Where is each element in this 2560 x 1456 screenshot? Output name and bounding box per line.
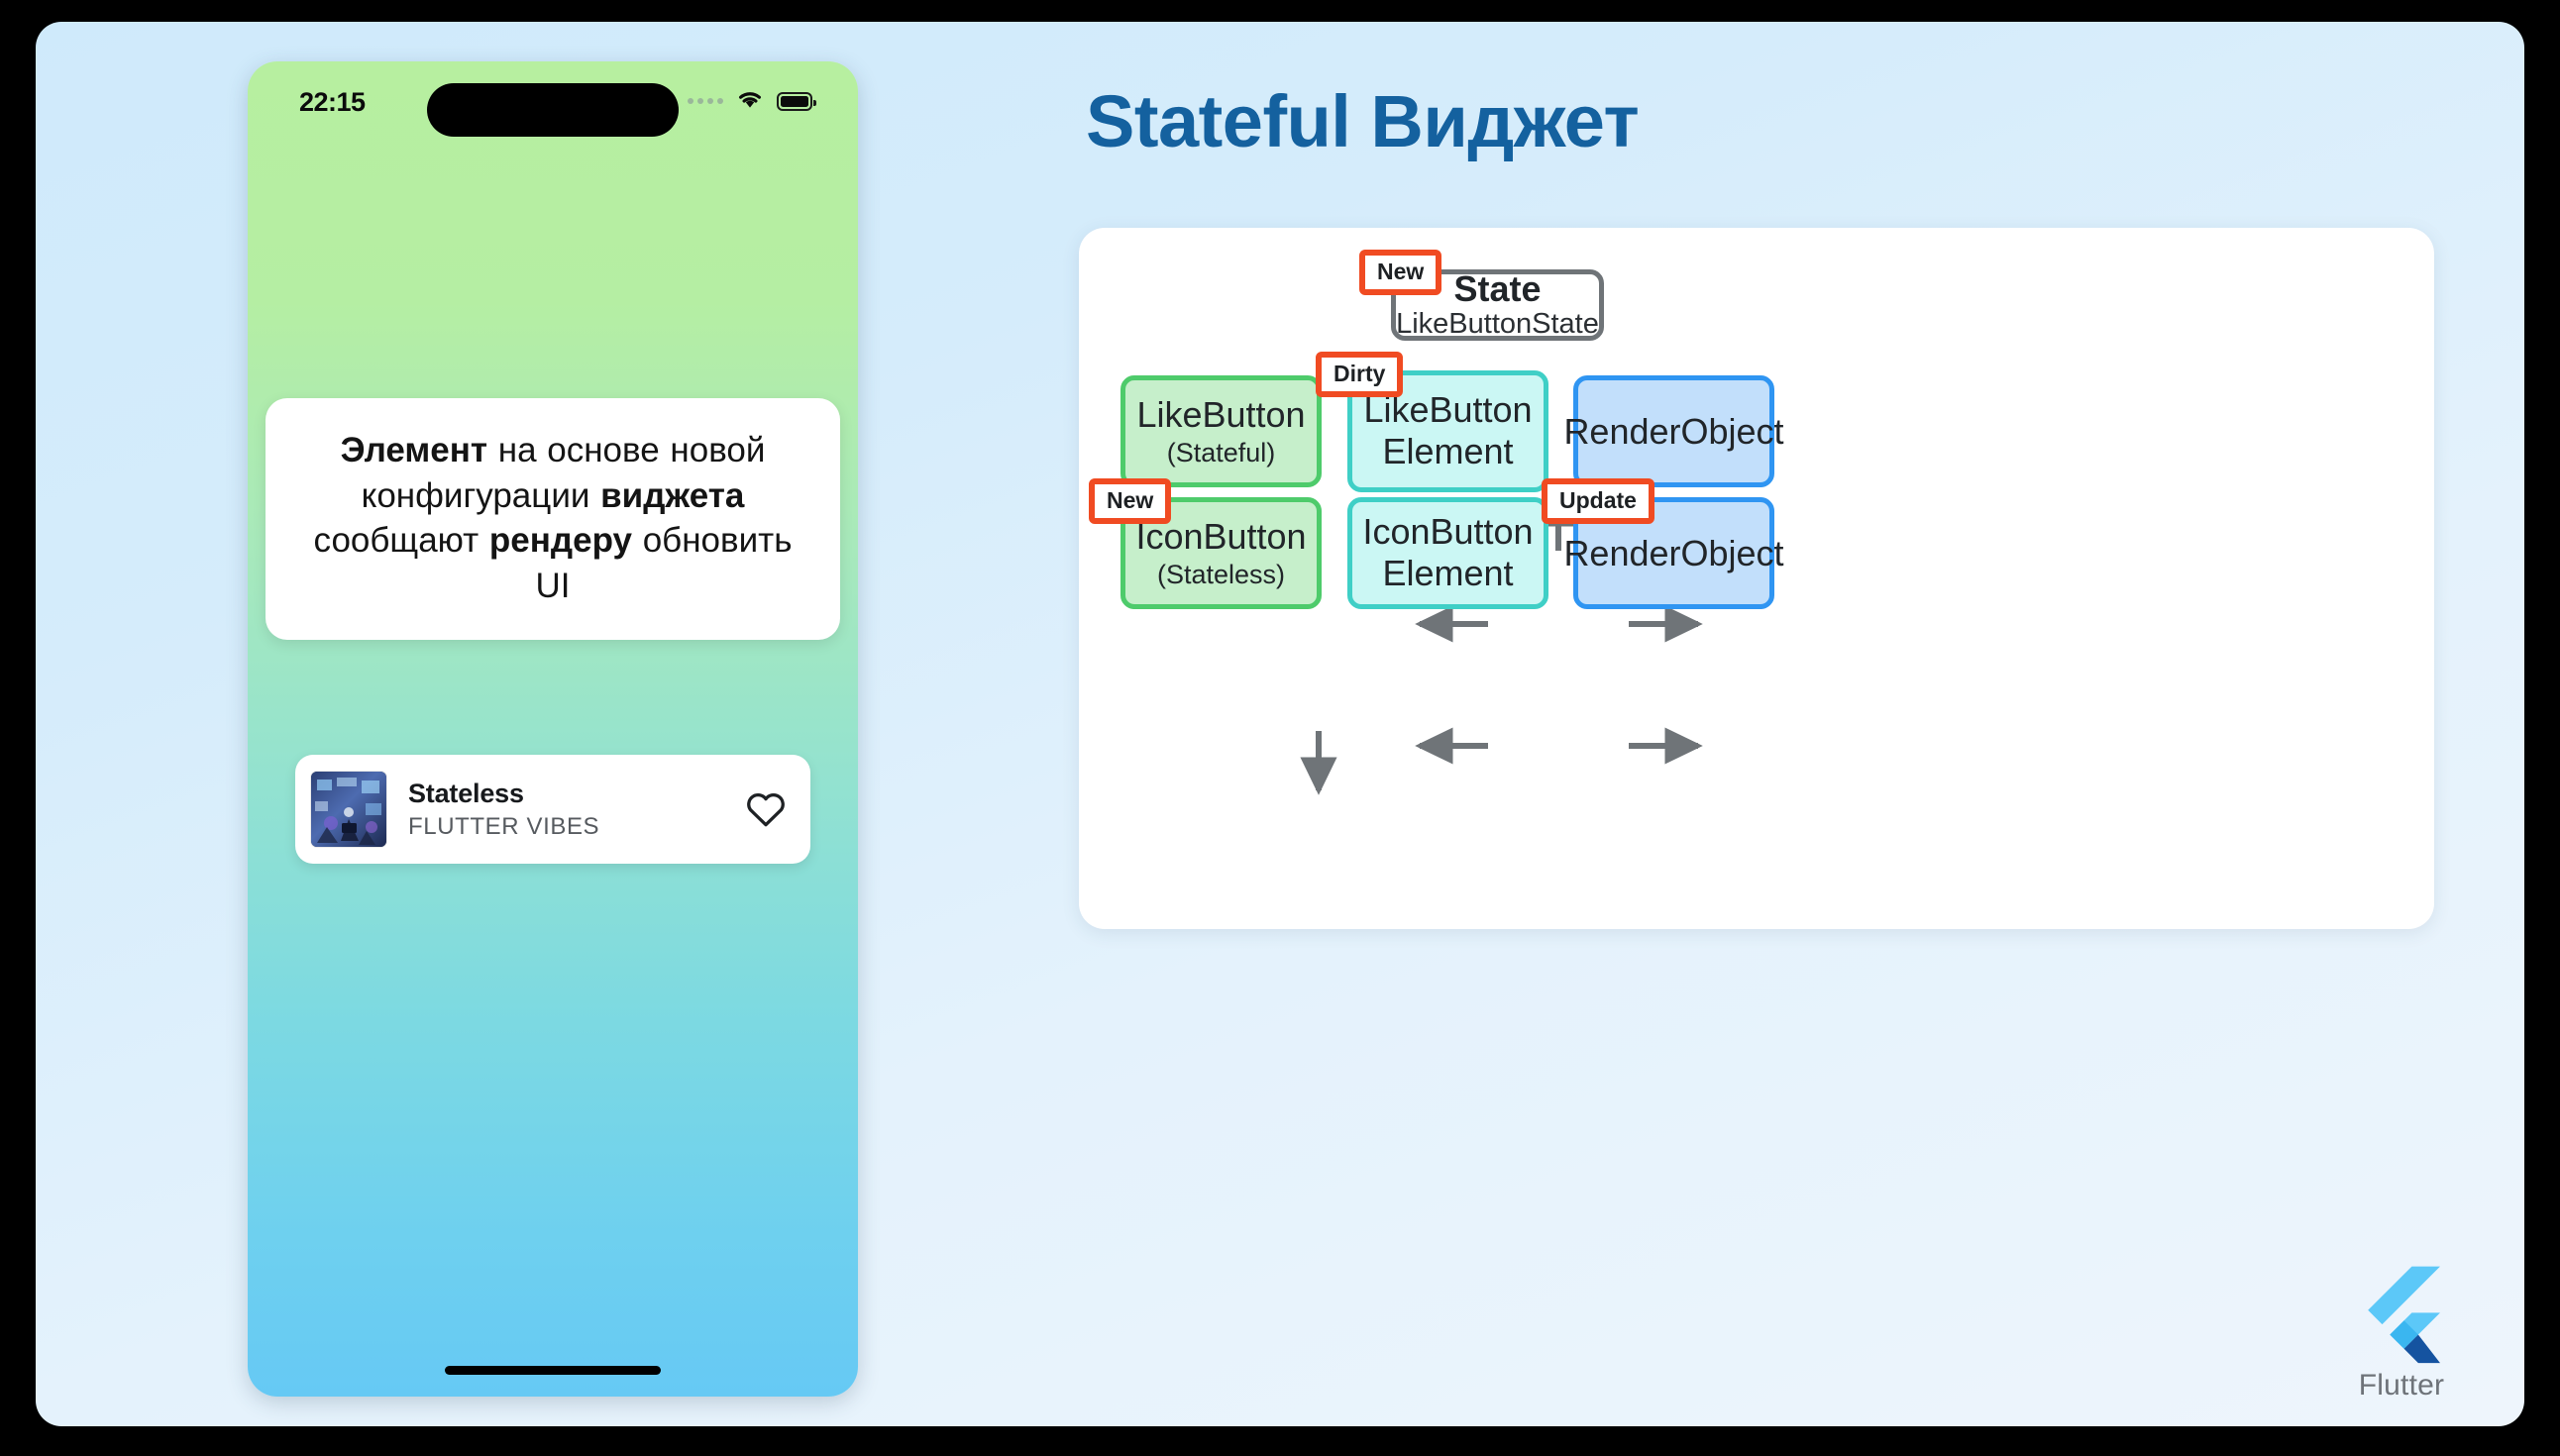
diagram-node-like-button[interactable]: LikeButton (Stateful) <box>1120 375 1322 487</box>
node-title: RenderObject <box>1563 411 1783 452</box>
screenshot-root: 22:15 Элеме <box>0 0 2560 1456</box>
home-indicator-bar <box>445 1366 661 1375</box>
node-subtitle: Element <box>1382 430 1513 472</box>
slide-surface: 22:15 Элеме <box>36 22 2524 1426</box>
badge-dirty-like-element: Dirty <box>1316 352 1403 397</box>
message-card-text: Элемент на основе новой конфигурации вид… <box>291 428 814 608</box>
node-title: LikeButton <box>1136 394 1305 435</box>
badge-update-render-object: Update <box>1542 478 1654 524</box>
flutter-wordmark: Flutter <box>2334 1369 2469 1403</box>
status-bar-time: 22:15 <box>299 87 366 118</box>
signal-dots-icon <box>688 98 723 104</box>
diagram-node-render-object-top[interactable]: RenderObject <box>1573 375 1774 487</box>
heart-outline-icon[interactable] <box>743 786 789 832</box>
phone-mockup: 22:15 Элеме <box>248 61 858 1397</box>
node-subtitle: LikeButtonState <box>1396 307 1599 342</box>
flutter-branding: Flutter <box>2334 1264 2469 1403</box>
diagram-card: State LikeButtonState New LikeButton (St… <box>1079 228 2434 929</box>
status-bar: 22:15 <box>248 61 858 145</box>
badge-new-icon-button: New <box>1089 478 1171 524</box>
badge-new-state: New <box>1359 250 1441 295</box>
diagram-node-icon-button-element[interactable]: IconButton Element <box>1347 497 1548 609</box>
node-title: IconButton <box>1362 511 1533 552</box>
node-title: RenderObject <box>1563 533 1783 573</box>
node-title: State <box>1453 268 1541 309</box>
track-subtitle: FLUTTER VIBES <box>408 813 743 841</box>
wifi-icon <box>735 88 765 115</box>
widget-tree-diagram: State LikeButtonState New LikeButton (St… <box>1079 228 2434 929</box>
battery-icon <box>777 92 812 111</box>
track-meta: Stateless FLUTTER VIBES <box>386 779 743 841</box>
track-card[interactable]: Stateless FLUTTER VIBES <box>295 755 810 864</box>
flutter-logo-icon <box>2334 1264 2469 1367</box>
node-subtitle: Element <box>1382 552 1513 594</box>
page-title: Stateful Виджет <box>1086 79 1639 163</box>
node-subtitle: (Stateless) <box>1157 559 1285 590</box>
status-bar-indicators <box>688 87 812 115</box>
dynamic-island <box>427 83 679 137</box>
node-subtitle: (Stateful) <box>1167 437 1276 468</box>
track-title: Stateless <box>408 779 743 809</box>
message-card: Элемент на основе новой конфигурации вид… <box>266 398 840 640</box>
album-art-thumbnail <box>311 772 386 847</box>
